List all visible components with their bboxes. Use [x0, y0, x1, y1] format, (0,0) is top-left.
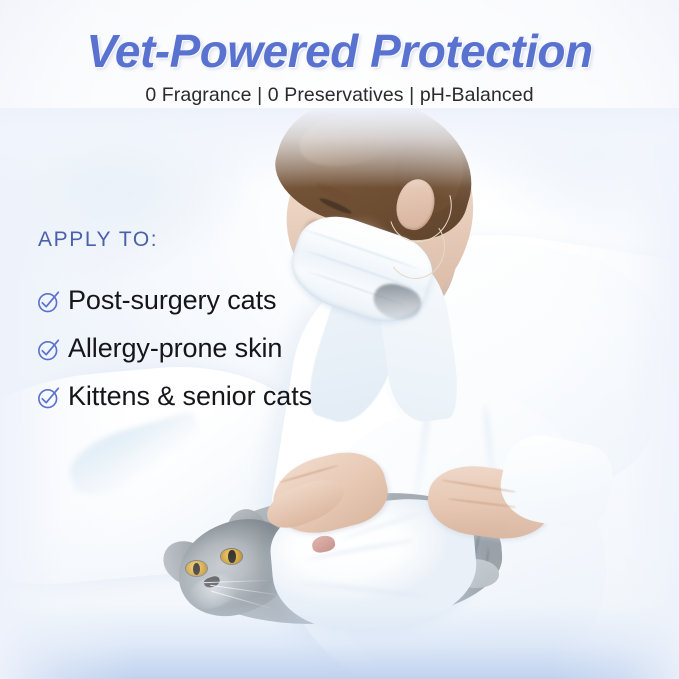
- apply-to-block: APPLY TO:: [38, 228, 158, 252]
- apply-to-label: APPLY TO:: [38, 228, 158, 252]
- circled-check-icon: [36, 289, 61, 314]
- circled-check-icon: [36, 337, 61, 362]
- claims-subtitle: 0 Fragrance | 0 Preservatives | pH-Balan…: [0, 84, 679, 107]
- list-item-label: Post-surgery cats: [68, 285, 276, 316]
- list-item: Allergy-prone skin: [36, 324, 312, 372]
- list-item: Kittens & senior cats: [36, 372, 312, 420]
- page-title: Vet-Powered Protection: [0, 24, 679, 78]
- poster-canvas: Vet-Powered Protection 0 Fragrance | 0 P…: [0, 0, 679, 679]
- list-item-label: Allergy-prone skin: [68, 333, 282, 364]
- cat-pupil-right: [228, 550, 235, 563]
- apply-to-list: Post-surgery cats Allergy-prone skin Kit…: [36, 276, 312, 420]
- list-item-label: Kittens & senior cats: [68, 381, 312, 412]
- list-item: Post-surgery cats: [36, 276, 312, 324]
- circled-check-icon: [36, 385, 61, 410]
